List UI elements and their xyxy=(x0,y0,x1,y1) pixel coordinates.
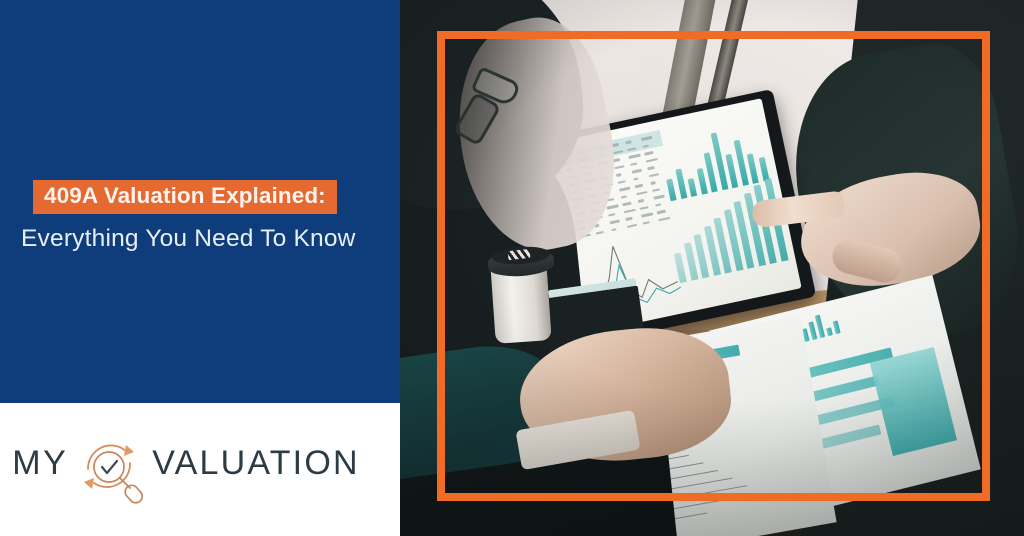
banner-container: 409A Valuation Explained: Everything You… xyxy=(0,0,1024,536)
logo-word-my: MY xyxy=(12,444,68,483)
tablet-table-cell xyxy=(642,221,649,225)
tablet-table-cell xyxy=(617,180,625,184)
tablet-table-cell xyxy=(636,190,647,195)
tablet-table-cell xyxy=(596,230,604,234)
tablet-table-cell xyxy=(611,228,616,231)
tablet-table-cell xyxy=(622,202,631,206)
tablet-table-cell xyxy=(619,186,630,191)
tablet-table-cell xyxy=(610,219,620,224)
tablet-table-cell xyxy=(644,151,653,155)
tablet-table-cell xyxy=(647,166,654,170)
tablet-table-cell xyxy=(614,165,624,170)
magnifier-check-cycle-icon xyxy=(74,429,150,505)
tablet-table-cell xyxy=(607,204,619,209)
brand-logo[interactable]: MY xyxy=(12,426,359,502)
report-bar xyxy=(833,320,841,334)
tablet-table-cell xyxy=(616,173,621,176)
tablet-table-cell xyxy=(628,154,640,159)
tablet-table-cell xyxy=(624,208,636,213)
title-highlight-wrapper: 409A Valuation Explained: xyxy=(0,180,400,214)
hero-photo xyxy=(400,0,1024,536)
tablet-table-cell xyxy=(639,206,648,210)
title-block: 409A Valuation Explained: Everything You… xyxy=(0,180,400,252)
logo-area: MY xyxy=(0,403,400,536)
tablet-table-cell xyxy=(633,177,638,180)
tablet-table-cell xyxy=(649,173,659,178)
blue-title-panel: 409A Valuation Explained: Everything You… xyxy=(0,0,400,403)
page-title-line-1: 409A Valuation Explained: xyxy=(33,180,337,214)
report-bar xyxy=(826,327,833,336)
logo-word-valuation: VALUATION xyxy=(152,444,359,483)
tablet-table-cell xyxy=(625,217,632,221)
tablet-table-cell xyxy=(627,223,637,228)
tablet-table-cell xyxy=(630,162,637,166)
tablet-table-cell xyxy=(655,203,661,207)
tablet-table-cell xyxy=(641,212,653,217)
tablet-table-cell xyxy=(638,199,644,203)
tablet-table-cell xyxy=(646,158,658,163)
tablet-table-cell xyxy=(632,169,642,174)
tablet-table-cell xyxy=(608,213,615,217)
tablet-table-cell xyxy=(621,195,627,199)
tablet-table-cell xyxy=(635,184,643,188)
tablet-table-cell xyxy=(652,188,660,192)
tablet-table-cell xyxy=(650,181,655,184)
page-title-line-2: Everything You Need To Know xyxy=(0,226,400,253)
report-chart-block xyxy=(870,347,957,456)
left-column: 409A Valuation Explained: Everything You… xyxy=(0,0,400,536)
